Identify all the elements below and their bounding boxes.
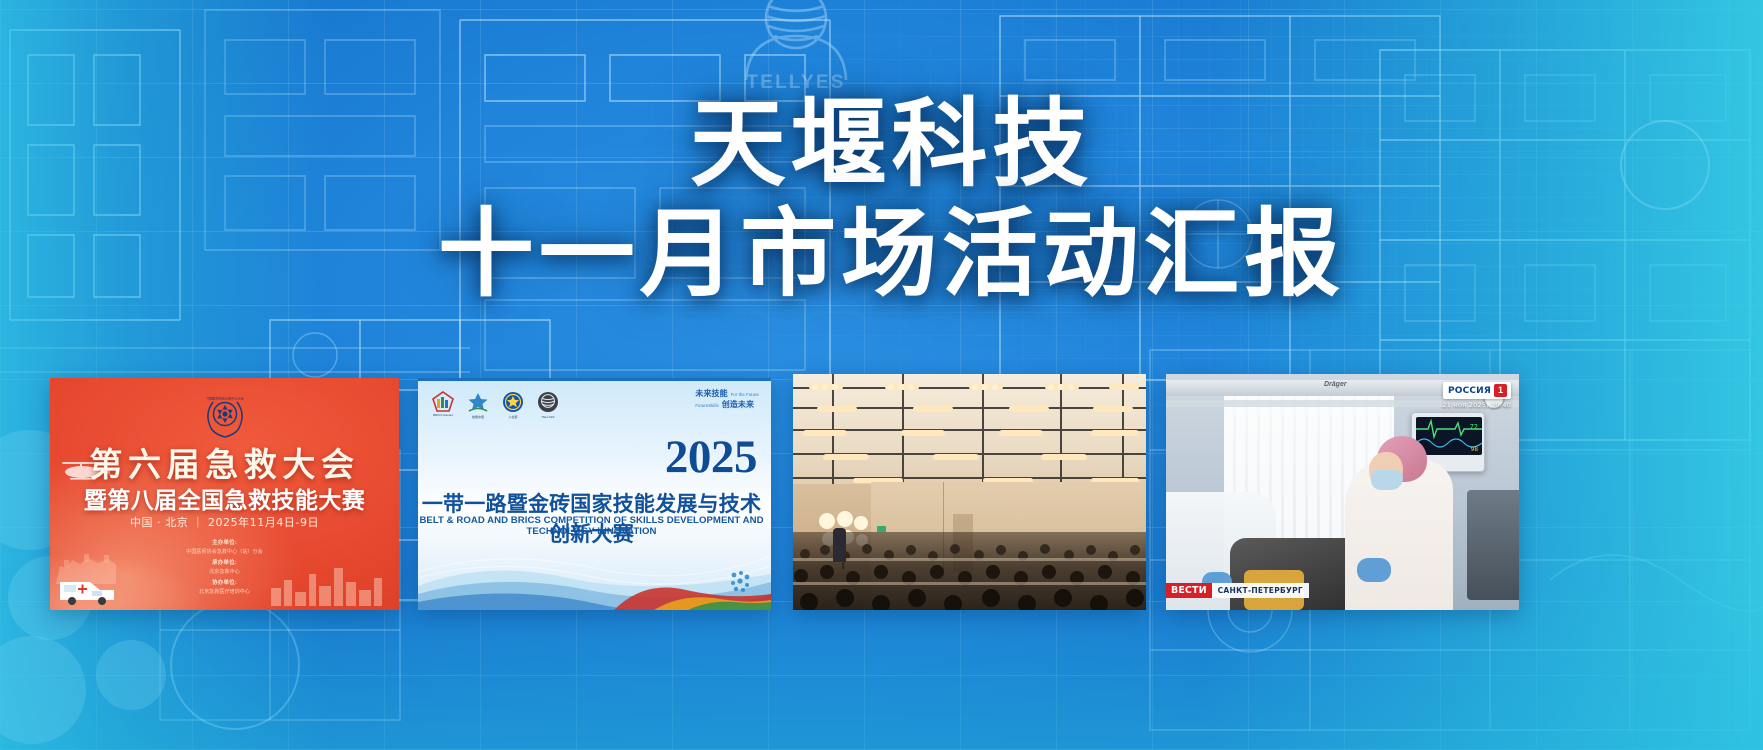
event-card-conference-hall-photo[interactable] <box>793 374 1146 610</box>
lower-third-region: САНКТ-ПЕТЕРБУРГ <box>1212 583 1309 598</box>
card1-title-sub: 暨第八届全国急救技能大赛 <box>50 481 399 515</box>
card3-presenter <box>833 528 846 562</box>
card2-slogan-en-1: For the Future <box>731 392 759 397</box>
card2-slogan-en-2: FutureSkills <box>695 403 718 408</box>
card4-device-brand: Dräger <box>1324 381 1347 388</box>
tellyes-logo-icon: TELLYES <box>535 390 561 420</box>
card2-slogan-cn-2: 创造未来 <box>722 399 754 410</box>
brics-games-logo-icon: BRICS Games <box>430 390 456 420</box>
lower-third-program: ВЕСТИ <box>1166 583 1212 598</box>
card1-credit-value: 北京急救医疗培训中心 <box>50 588 399 598</box>
star-of-life-laurel-emblem-icon: 中国医师协会急救中心分会 <box>199 394 251 438</box>
dot-cluster-icon <box>725 566 755 596</box>
svg-text:人社部: 人社部 <box>508 414 517 419</box>
skills-emblem-icon: 技能中国 <box>465 390 491 420</box>
channel-name: РОССИЯ <box>1448 386 1491 396</box>
svg-text:技能中国: 技能中国 <box>472 414 484 419</box>
wave-ribbon-graphic <box>418 532 771 610</box>
svg-text:72: 72 <box>1470 423 1478 431</box>
event-card-row: 中国医师协会急救中心分会 第六届急救大会 暨第八届全国急救技能大赛 中国 · 北… <box>0 0 1763 750</box>
card1-credit-label: 协办单位: <box>50 578 399 588</box>
svg-text:TELLYES: TELLYES <box>542 415 555 419</box>
card2-slogan-block: 未来技能 For the Future FutureSkills 创造未来 <box>695 388 759 410</box>
card1-credit-value: 北京急救中心 <box>50 568 399 578</box>
card1-credit-label: 承办单位: <box>50 558 399 568</box>
card1-credit-value: 中国医师协会急救中心（站）分会 <box>50 548 399 558</box>
card2-slogan-cn-1: 未来技能 <box>695 388 727 399</box>
broadcast-timestamp: 21 ноя 2025, 19:40 <box>1442 401 1511 409</box>
svg-text:BRICS Games: BRICS Games <box>433 413 453 417</box>
svg-text:98: 98 <box>1471 446 1479 453</box>
card2-year: 2025 <box>665 430 757 484</box>
card4-equipment-cart <box>1467 490 1519 600</box>
card4-glove-right <box>1357 558 1391 582</box>
marketing-banner: TELLYES 天堰科技 十一月市场活动汇报 <box>0 0 1763 750</box>
card1-title-main: 第六届急救大会 <box>50 438 399 486</box>
card2-logo-row: BRICS Games 技能中国 人社部 TELLYES <box>430 390 561 420</box>
card1-meta: 中国 · 北京 ｜ 2025年11月4日-9日 <box>50 514 399 530</box>
shield-emblem-icon: 人社部 <box>500 390 526 420</box>
face-mask-icon <box>1371 470 1403 490</box>
event-card-brics-competition[interactable]: BRICS Games 技能中国 人社部 TELLYES <box>418 378 771 610</box>
svg-text:中国医师协会急救中心分会: 中国医师协会急救中心分会 <box>206 395 243 400</box>
event-card-emergency-conference[interactable]: 中国医师协会急救中心分会 第六届急救大会 暨第八届全国急救技能大赛 中国 · 北… <box>50 378 399 610</box>
channel-logo: РОССИЯ 1 <box>1443 382 1511 399</box>
event-card-russia-tv-news[interactable]: Dräger 72 98 <box>1166 374 1519 610</box>
card1-credits: 主办单位: 中国医师协会急救中心（站）分会 承办单位: 北京急救中心 协办单位:… <box>50 538 399 598</box>
card1-credit-label: 主办单位: <box>50 538 399 548</box>
channel-number: 1 <box>1494 384 1507 397</box>
patient-monitor-screen: 72 98 <box>1416 417 1482 455</box>
card2-top-accent-bar <box>418 378 771 381</box>
lower-third-banner: ВЕСТИ САНКТ-ПЕТЕРБУРГ <box>1166 583 1309 598</box>
